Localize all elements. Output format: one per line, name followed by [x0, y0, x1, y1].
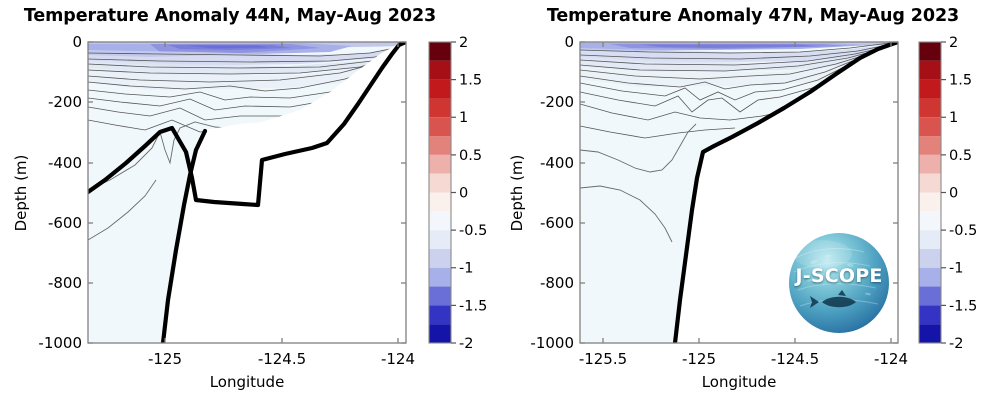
figure-canvas: Temperature Anomaly 44N, May-Aug 2023 [0, 0, 1000, 414]
colorbar-right-ticks [941, 42, 946, 343]
colorbar-right-tick--0-5: -0.5 [949, 223, 977, 239]
colorbar-right-tick--1: -1 [949, 261, 963, 277]
colorbar-right-tick-0-5: 0.5 [949, 148, 972, 164]
panel-44n-ytick-1000: -1000 [38, 334, 82, 352]
panel-44n-ytick-600: -600 [48, 214, 82, 232]
colorbar-right-tick-1: 1 [949, 110, 958, 126]
colorbar-right-swatches [919, 42, 941, 343]
colorbar-left-ticks [451, 42, 456, 343]
panel-47n-ytick-400: -400 [540, 154, 574, 172]
panel-47n-xtick--124-5: -124.5 [771, 350, 819, 368]
panel-44n-ytick-0: 0 [72, 33, 82, 51]
colorbar-left-tick--0-5: -0.5 [459, 223, 487, 239]
colorbar-left-swatches [429, 42, 451, 343]
panel-47n-plot: 0 -200 -400 -600 -800 -1000 -125.5 -125 … [500, 0, 1000, 414]
panel-44n-ytick-200: -200 [48, 93, 82, 111]
panel-47n-ytick-0: 0 [564, 33, 574, 51]
panel-44n-xtick--124-5: -124.5 [258, 350, 306, 368]
panel-47n-ytick-800: -800 [540, 274, 574, 292]
colorbar-left-tick-0: 0 [459, 186, 468, 202]
panel-47n-ytick-1000: -1000 [530, 334, 574, 352]
panel-47n-xtick--125: -125 [682, 350, 716, 368]
colorbar-right-tick-1-5: 1.5 [949, 73, 972, 89]
panel-44n: Temperature Anomaly 44N, May-Aug 2023 [0, 0, 500, 414]
colorbar-right-tick-2: 2 [949, 35, 958, 51]
jscope-logo-text: J-SCOPE [788, 265, 890, 287]
jscope-logo: J-SCOPE [788, 232, 890, 334]
panel-44n-xtick--125: -125 [148, 350, 182, 368]
colorbar-left-tick--1-5: -1.5 [459, 298, 487, 314]
panel-47n: Temperature Anomaly 47N, May-Aug 2023 [500, 0, 1000, 414]
panel-47n-ytick-200: -200 [540, 93, 574, 111]
colorbar-right-tick--2: -2 [949, 336, 963, 352]
panel-47n-xtick--125-5: -125.5 [579, 350, 627, 368]
colorbar-left-tick-1-5: 1.5 [459, 73, 482, 89]
colorbar-left-tick-0-5: 0.5 [459, 148, 482, 164]
colorbar-left-tick-1: 1 [459, 110, 468, 126]
panel-47n-ytick-600: -600 [540, 214, 574, 232]
panel-44n-xtick--124: -124 [381, 350, 415, 368]
colorbar-left-tick-2: 2 [459, 35, 468, 51]
panel-47n-yaxis-label: Depth (m) [508, 155, 526, 232]
panel-44n-plot: 0 -200 -400 -600 -800 -1000 -125 -124.5 … [0, 0, 500, 414]
colorbar-right-tick--1-5: -1.5 [949, 298, 977, 314]
panel-44n-ytick-400: -400 [48, 154, 82, 172]
colorbar-left: 2 1.5 1 0.5 0 -0.5 -1 -1.5 -2 [429, 35, 487, 352]
panel-44n-xaxis-label: Longitude [210, 373, 285, 391]
colorbar-left-tick--1: -1 [459, 261, 473, 277]
panel-44n-yaxis-label: Depth (m) [12, 155, 30, 232]
panel-47n-xtick--124: -124 [874, 350, 908, 368]
colorbar-left-tick--2: -2 [459, 336, 473, 352]
colorbar-right-tick-0: 0 [949, 186, 958, 202]
panel-47n-xaxis-label: Longitude [702, 373, 777, 391]
colorbar-right: 2 1.5 1 0.5 0 -0.5 -1 -1.5 -2 [919, 35, 977, 352]
panel-44n-ytick-800: -800 [48, 274, 82, 292]
